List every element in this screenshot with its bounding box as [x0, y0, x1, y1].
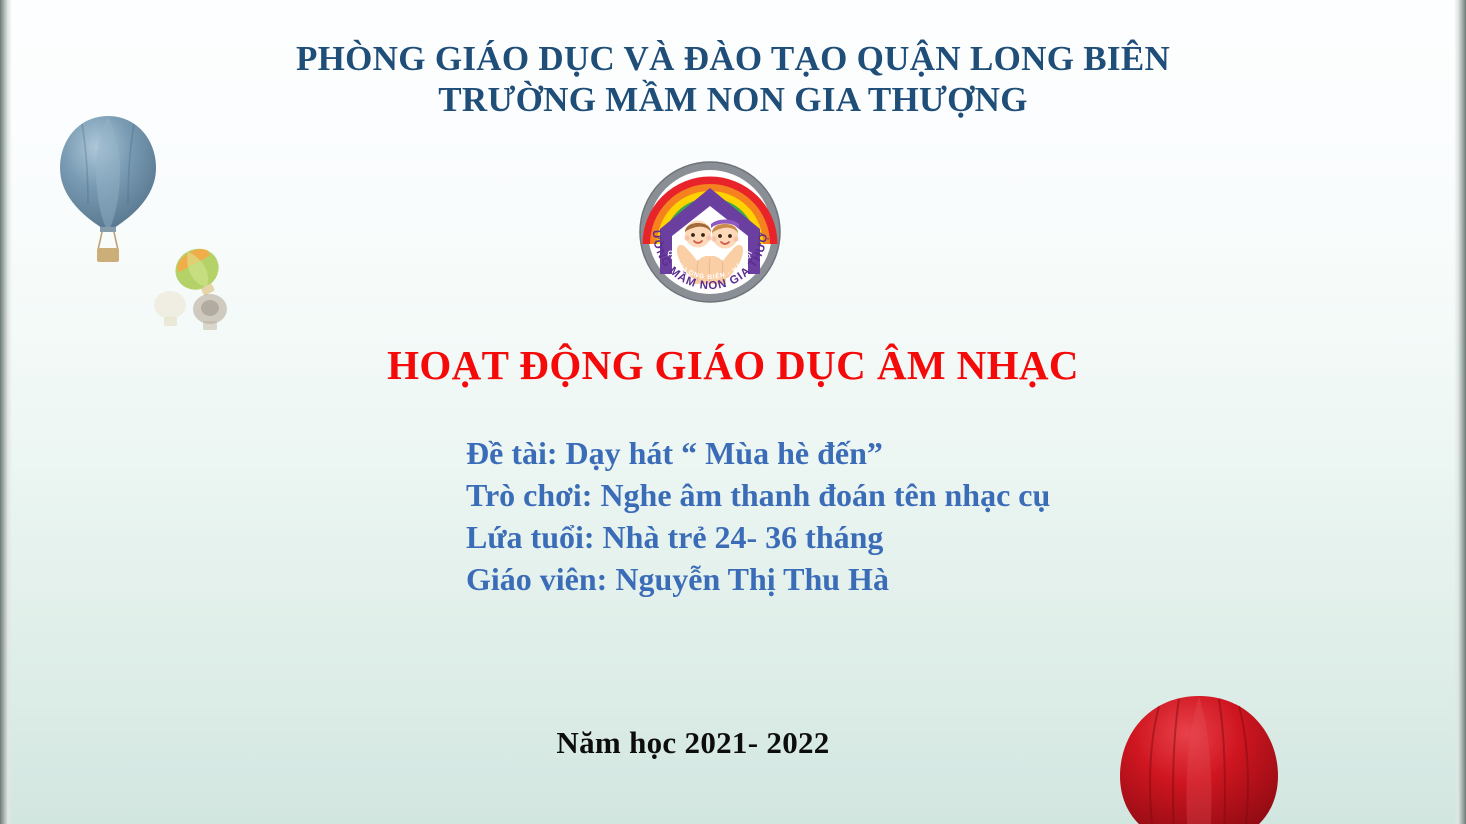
presentation-slide: PHÒNG GIÁO DỤC VÀ ĐÀO TẠO QUẬN LONG BIÊN…: [0, 0, 1466, 824]
school-header: PHÒNG GIÁO DỤC VÀ ĐÀO TẠO QUẬN LONG BIÊN…: [0, 38, 1466, 120]
slide-right-edge-strip: [1454, 0, 1466, 824]
hot-air-balloon-blue-icon: [52, 112, 164, 262]
lesson-details: Đề tài: Dạy hát “ Mùa hè đến” Trò chơi: …: [466, 432, 1050, 600]
school-year-label: Năm học 2021- 2022: [556, 725, 829, 761]
hot-air-balloon-green-icon: [168, 243, 228, 305]
hot-air-balloon-faint-icon: [148, 275, 248, 337]
school-logo: TRƯỜNG MẦM NON GIA THƯỢNG QUẬN LONG BIÊN…: [636, 158, 784, 306]
page-title: HOẠT ĐỘNG GIÁO DỤC ÂM NHẠC: [0, 340, 1466, 390]
department-name: PHÒNG GIÁO DỤC VÀ ĐÀO TẠO QUẬN LONG BIÊN: [0, 38, 1466, 79]
detail-game: Trò chơi: Nghe âm thanh đoán tên nhạc cụ: [466, 474, 1050, 516]
slide-left-edge-strip: [0, 0, 12, 824]
school-year-footer: Năm học 2021- 2022: [0, 725, 1466, 761]
detail-teacher: Giáo viên: Nguyễn Thị Thu Hà: [466, 558, 1050, 600]
detail-topic: Đề tài: Dạy hát “ Mùa hè đến”: [466, 432, 1050, 474]
detail-age-group: Lứa tuổi: Nhà trẻ 24- 36 tháng: [466, 516, 1050, 558]
school-name: TRƯỜNG MẦM NON GIA THƯỢNG: [0, 79, 1466, 120]
